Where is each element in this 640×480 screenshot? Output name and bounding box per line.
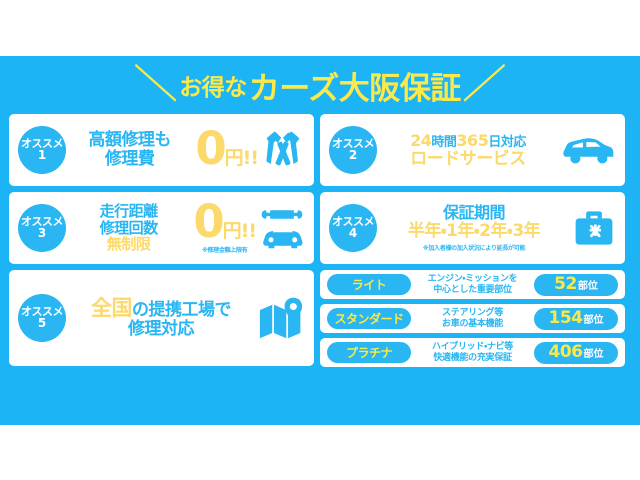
badge-number: 4 bbox=[349, 227, 357, 240]
plan-count-unit: 部位 bbox=[578, 277, 598, 292]
card-5-line-1: 全国の提携工場で bbox=[91, 297, 231, 320]
card-1-price-yen: 円!! bbox=[225, 143, 258, 170]
badge-number: 3 bbox=[38, 227, 46, 240]
card-3-line-2: 修理回数 bbox=[100, 220, 158, 237]
plan-description: ハイブリッド・ナビ等 快適機能の充実保証 bbox=[416, 342, 529, 363]
card-2-days-unit: 日対応 bbox=[488, 135, 526, 150]
feature-card-2-text: 24時間365日対応 ロードサービス bbox=[377, 132, 559, 169]
toolbox-case-icon bbox=[573, 207, 615, 249]
plan-desc-line-1: ステアリング等 bbox=[416, 308, 529, 318]
badge-number: 1 bbox=[38, 149, 46, 162]
plan-desc-line-2: お車の基本機能 bbox=[416, 319, 529, 329]
badge-number: 5 bbox=[38, 317, 46, 330]
card-3-price-yen: 円!! bbox=[223, 216, 256, 243]
feature-card-4-text: 保証期間 半年・1年・2年・3年 ※加入者様の加入状況により延長が可能 bbox=[377, 204, 571, 251]
feature-card-3: オススメ 3 走行距離 修理回数 無制限 0 円!! ※修理金額上限有 bbox=[9, 192, 314, 264]
card-2-days-number: 365 bbox=[456, 131, 488, 150]
plan-count-number: 52 bbox=[554, 274, 577, 294]
plan-count-pill: 154 部位 bbox=[534, 308, 618, 330]
card-2-line-2: ロードサービス bbox=[410, 150, 526, 169]
card-5-nationwide-text: 全国 bbox=[91, 296, 132, 320]
card-1-line-1: 高額修理も bbox=[88, 131, 171, 150]
plan-desc-line-1: ハイブリッド・ナビ等 bbox=[416, 342, 529, 352]
plan-count-unit: 部位 bbox=[584, 345, 604, 360]
card-4-line-2: 半年・1年・2年・3年 bbox=[408, 222, 540, 241]
card-4-line-1: 保証期間 bbox=[443, 204, 505, 222]
feature-card-4: オススメ 4 保証期間 半年・1年・2年・3年 ※加入者様の加入状況により延長が… bbox=[320, 192, 625, 264]
poster-body: ＼ お得な カーズ大阪保証 ／ オススメ 1 高額修理も 修理費 0 bbox=[0, 56, 640, 425]
headline-big-text: カーズ大阪保証 bbox=[249, 63, 461, 108]
badge-2: オススメ 2 bbox=[329, 126, 377, 174]
plan-name-pill: スタンダード bbox=[327, 308, 411, 329]
plan-row-standard[interactable]: スタンダード ステアリング等 お車の基本機能 154 部位 bbox=[320, 304, 625, 333]
plan-count-number: 154 bbox=[549, 308, 583, 328]
card-3-price-zero: 0 bbox=[193, 203, 222, 241]
plan-row-light[interactable]: ライト エンジン・ミッションを 中心とした重要部位 52 部位 bbox=[320, 270, 625, 299]
feature-card-1: オススメ 1 高額修理も 修理費 0 円!! bbox=[9, 114, 314, 186]
card-1-price: 0 円!! bbox=[195, 130, 258, 170]
poster-stage: ＼ お得な カーズ大阪保証 ／ オススメ 1 高額修理も 修理費 0 bbox=[0, 0, 640, 480]
card-4-note: ※加入者様の加入状況により延長が可能 bbox=[423, 243, 525, 252]
feature-card-2: オススメ 2 24時間365日対応 ロードサービス bbox=[320, 114, 625, 186]
card-2-hours-number: 24 bbox=[410, 131, 431, 150]
plan-desc-line-2: 快適機能の充実保証 bbox=[416, 353, 529, 363]
feature-card-3-text: 走行距離 修理回数 無制限 bbox=[66, 203, 191, 253]
badge-number: 2 bbox=[349, 149, 357, 162]
plan-name-pill: プラチナ bbox=[327, 342, 411, 363]
car-icon bbox=[561, 133, 615, 167]
slash-left-icon: ＼ bbox=[135, 66, 179, 105]
plan-count-unit: 部位 bbox=[584, 311, 604, 326]
plan-row-platinum[interactable]: プラチナ ハイブリッド・ナビ等 快適機能の充実保証 406 部位 bbox=[320, 338, 625, 367]
badge-5: オススメ 5 bbox=[18, 294, 66, 342]
card-1-line-2: 修理費 bbox=[105, 150, 155, 169]
badge-1: オススメ 1 bbox=[18, 126, 66, 174]
card-3-price: 0 円!! ※修理金額上限有 bbox=[193, 203, 256, 254]
feature-card-grid: オススメ 1 高額修理も 修理費 0 円!! bbox=[9, 114, 631, 367]
plan-name-pill: ライト bbox=[327, 274, 411, 295]
plan-count-number: 406 bbox=[549, 342, 583, 362]
plan-desc-line-1: エンジン・ミッションを bbox=[416, 274, 529, 284]
feature-card-1-text: 高額修理も 修理費 bbox=[66, 131, 193, 168]
plan-description: ステアリング等 お車の基本機能 bbox=[416, 308, 529, 329]
bottom-row: オススメ 5 全国の提携工場で 修理対応 bbox=[9, 270, 625, 367]
plan-description: エンジン・ミッションを 中心とした重要部位 bbox=[416, 274, 529, 295]
card-1-price-zero: 0 bbox=[195, 130, 224, 168]
page-title: ＼ お得な カーズ大阪保証 ／ bbox=[9, 56, 631, 114]
plan-count-pill: 52 部位 bbox=[534, 274, 618, 296]
feature-card-5: オススメ 5 全国の提携工場で 修理対応 bbox=[9, 270, 314, 366]
card-3-line-3: 無制限 bbox=[107, 236, 151, 253]
card-5-line-1-rest: の提携工場で bbox=[132, 300, 231, 320]
slash-right-icon: ／ bbox=[461, 66, 505, 105]
card-3-note: ※修理金額上限有 bbox=[202, 245, 247, 254]
crossed-hammers-icon bbox=[262, 129, 304, 171]
car-wrench-icon bbox=[260, 205, 304, 251]
badge-3: オススメ 3 bbox=[18, 204, 66, 252]
feature-card-5-text: 全国の提携工場で 修理対応 bbox=[66, 297, 256, 339]
card-2-hours-unit: 時間 bbox=[431, 135, 456, 150]
card-2-line-1: 24時間365日対応 bbox=[410, 132, 526, 150]
badge-4: オススメ 4 bbox=[329, 204, 377, 252]
headline-small-text: お得な bbox=[179, 68, 247, 102]
plan-list: ライト エンジン・ミッションを 中心とした重要部位 52 部位 スタンダード bbox=[320, 270, 625, 367]
card-3-line-1: 走行距離 bbox=[100, 203, 158, 220]
map-pin-icon bbox=[258, 296, 304, 340]
plan-desc-line-2: 中心とした重要部位 bbox=[416, 285, 529, 295]
card-5-line-2: 修理対応 bbox=[128, 320, 194, 339]
plan-count-pill: 406 部位 bbox=[534, 342, 618, 364]
